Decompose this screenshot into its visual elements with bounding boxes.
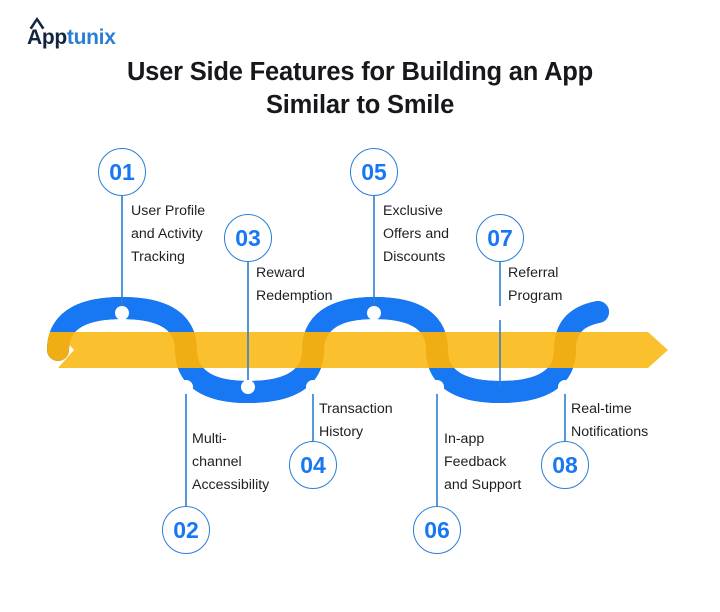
step-badge-07[interactable]: 07 (476, 214, 524, 262)
step-badge-02[interactable]: 02 (162, 506, 210, 554)
anchor-dot-04 (306, 380, 320, 394)
anchor-dot-05 (367, 306, 381, 320)
step-label-07: Referral Program (508, 262, 628, 308)
step-label-03: Reward Redemption (256, 262, 376, 308)
step-label-04: Transaction History (319, 398, 439, 444)
anchor-dot-02 (179, 380, 193, 394)
step-badge-06[interactable]: 06 (413, 506, 461, 554)
step-badge-01[interactable]: 01 (98, 148, 146, 196)
infographic-canvas: Apptunix User Side Features for Building… (0, 0, 720, 612)
step-label-08: Real-time Notifications (571, 398, 701, 444)
step-badge-08[interactable]: 08 (541, 441, 589, 489)
anchor-dot-08 (558, 380, 572, 394)
step-badge-05[interactable]: 05 (350, 148, 398, 196)
anchor-dot-01 (115, 306, 129, 320)
step-badge-03[interactable]: 03 (224, 214, 272, 262)
anchor-dot-03 (241, 380, 255, 394)
anchor-dot-07 (493, 306, 507, 320)
anchor-dot-06 (430, 380, 444, 394)
step-badge-04[interactable]: 04 (289, 441, 337, 489)
